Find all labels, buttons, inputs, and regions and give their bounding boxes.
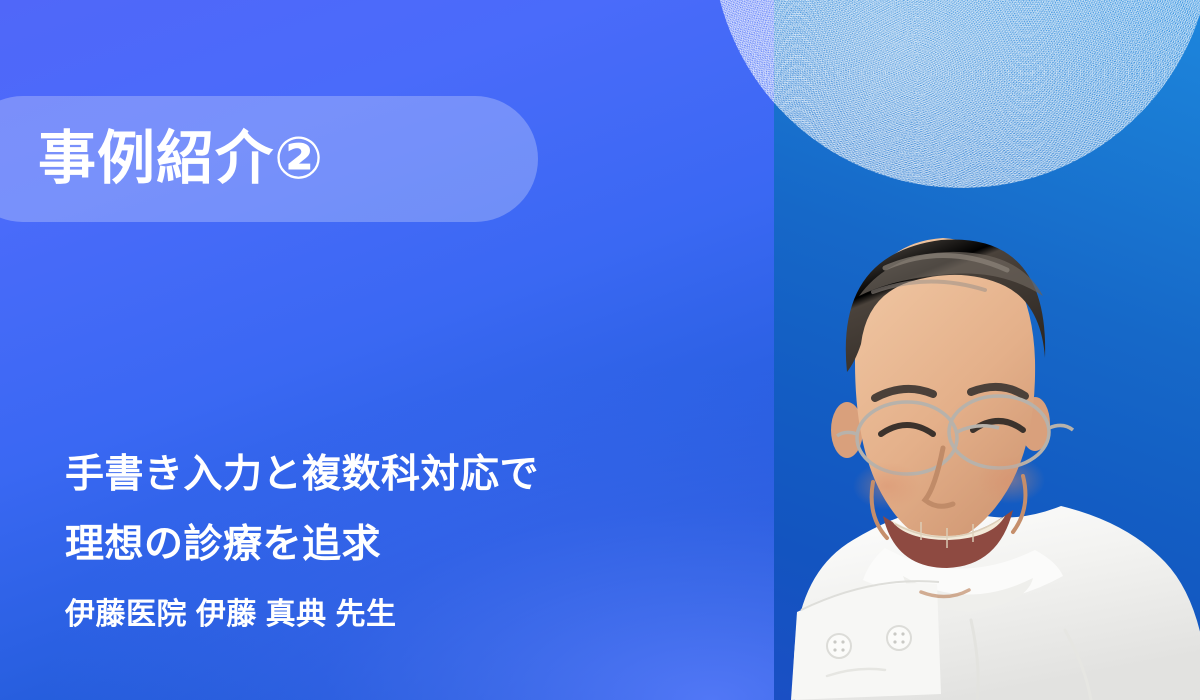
badge-label: 事例紹介② <box>38 130 324 188</box>
copy-block: 手書き入力と複数科対応で 理想の診療を追求 伊藤医院 伊藤 真典 先生 <box>65 440 705 631</box>
headline-line-1: 手書き入力と複数科対応で <box>65 440 705 510</box>
case-study-slide: 事例紹介② 手書き入力と複数科対応で 理想の診療を追求 伊藤医院 伊藤 真典 先… <box>0 0 1200 700</box>
badge-pill: 事例紹介② <box>0 96 538 222</box>
headline-line-2: 理想の診療を追求 <box>65 510 705 580</box>
portrait-photo <box>735 0 1200 700</box>
attribution-label: 伊藤医院 伊藤 真典 先生 <box>65 598 705 631</box>
